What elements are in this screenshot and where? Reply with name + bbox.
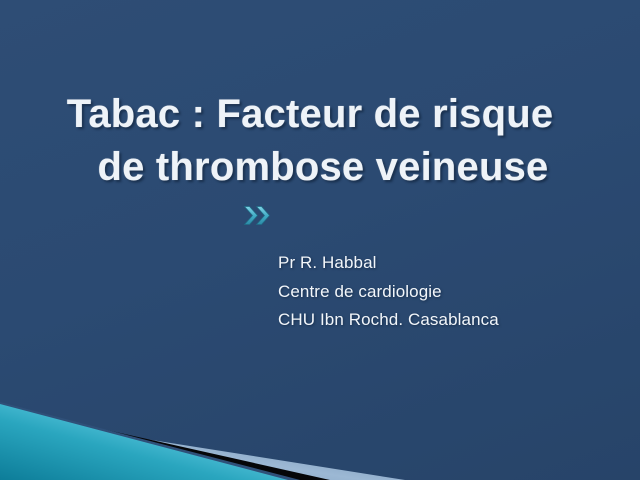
subtitle-line-institution: CHU Ibn Rochd. Casablanca — [278, 306, 608, 335]
band-teal — [0, 404, 288, 480]
decorative-diagonal-bands — [0, 380, 640, 480]
decorative-bands-svg — [0, 380, 640, 480]
subtitle-line-author: Pr R. Habbal — [278, 249, 608, 278]
title-line-2: de thrombose veineuse — [26, 141, 620, 194]
double-chevron-right-icon-svg — [243, 203, 277, 229]
subtitle-line-department: Centre de cardiologie — [278, 278, 608, 307]
slide-title: Tabac : Facteur de risque de thrombose v… — [0, 88, 620, 194]
band-slate-sliver — [0, 402, 300, 480]
band-steel-blue — [0, 416, 405, 480]
title-line-1: Tabac : Facteur de risque — [0, 88, 620, 141]
double-chevron-right-icon — [243, 203, 277, 229]
presentation-slide: Tabac : Facteur de risque de thrombose v… — [0, 0, 640, 480]
band-black — [0, 406, 330, 480]
slide-subtitle: Pr R. Habbal Centre de cardiologie CHU I… — [278, 249, 608, 335]
